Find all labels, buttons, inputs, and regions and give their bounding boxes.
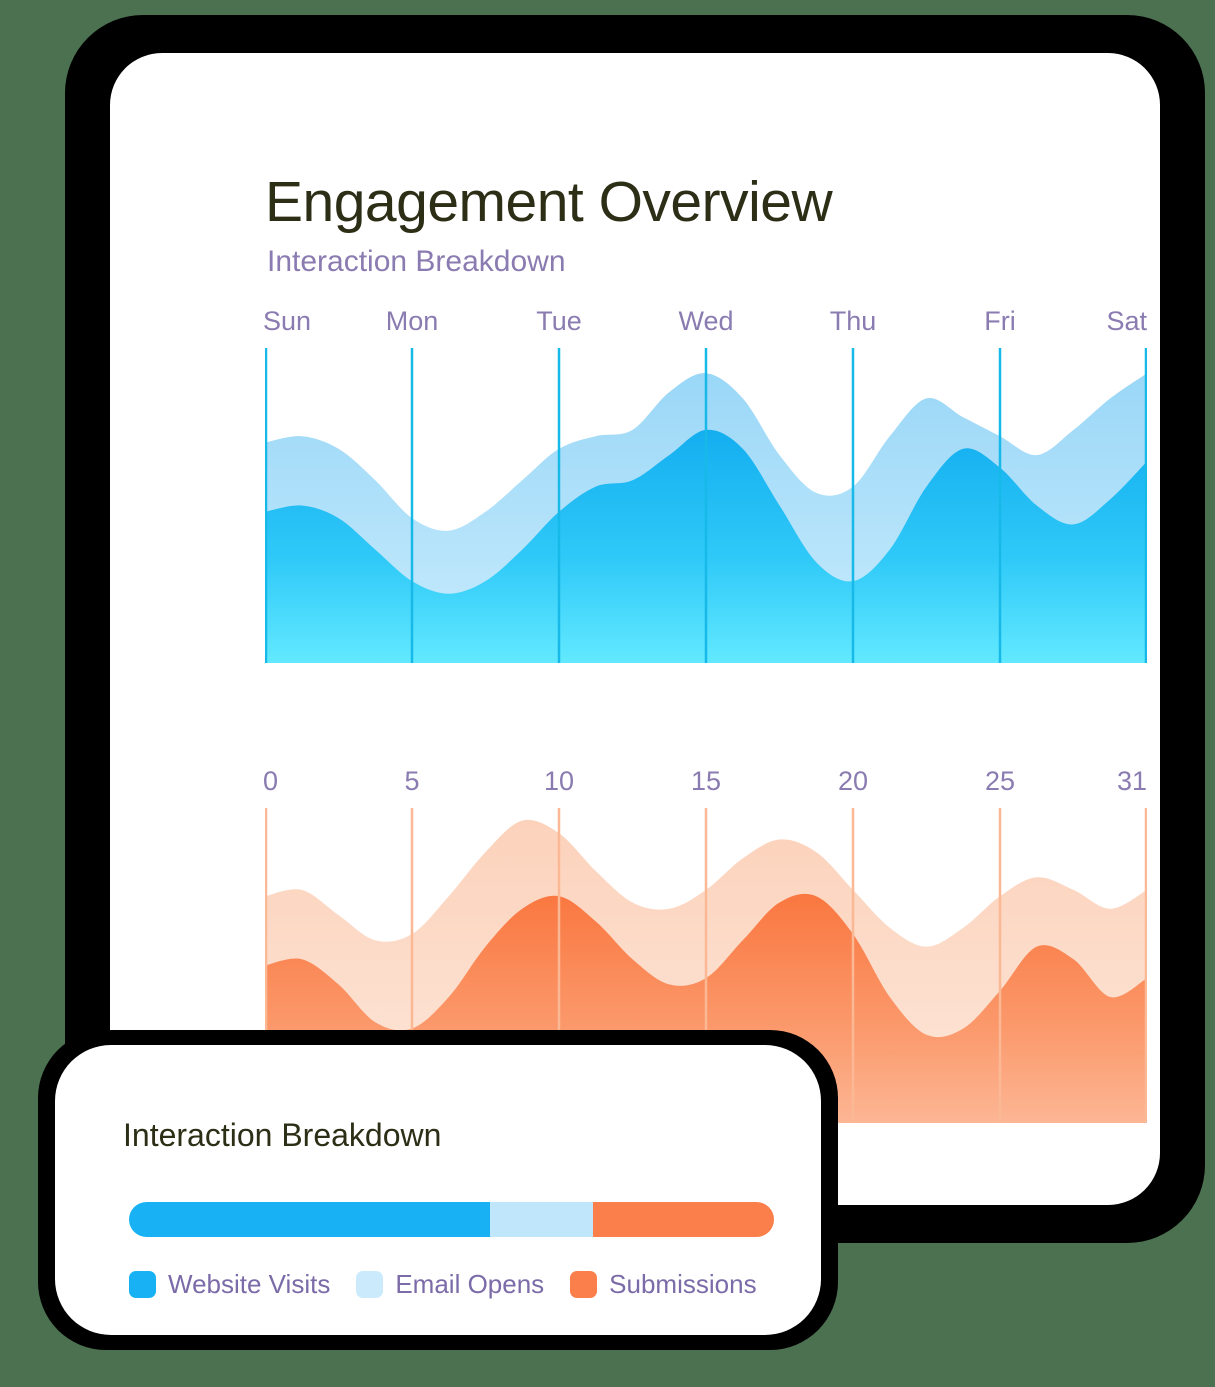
weekly-chart-x-axis: SunMonTueWedThuFriSat (265, 306, 1147, 348)
interaction-breakdown-card: Interaction Breakdown Website VisitsEmai… (55, 1045, 821, 1335)
axis-tick-label: Tue (536, 306, 582, 337)
legend-item-label: Email Opens (395, 1269, 544, 1300)
weekly-area-svg (265, 348, 1147, 663)
axis-tick-label: Fri (984, 306, 1015, 337)
axis-tick-label: 15 (691, 766, 721, 797)
bar-segment-email-opens[interactable] (490, 1202, 593, 1237)
interaction-breakdown-bar[interactable] (129, 1202, 774, 1237)
legend-swatch-icon (356, 1271, 383, 1298)
page-subtitle: Interaction Breakdown (267, 245, 566, 279)
bar-segment-website-visits[interactable] (129, 1202, 490, 1237)
axis-tick-label: 0 (263, 766, 278, 797)
legend-item-submissions[interactable]: Submissions (570, 1269, 756, 1300)
axis-tick-label: 31 (1117, 766, 1147, 797)
legend-swatch-icon (570, 1271, 597, 1298)
legend-item-label: Submissions (609, 1269, 756, 1300)
legend-item-label: Website Visits (168, 1269, 330, 1300)
weekly-chart-plot-area (265, 348, 1147, 663)
monthly-chart-x-axis: 051015202531 (265, 766, 1147, 808)
axis-tick-label: 10 (544, 766, 574, 797)
axis-tick-label: 5 (404, 766, 419, 797)
legend-card-title: Interaction Breakdown (123, 1117, 441, 1154)
axis-tick-label: 25 (985, 766, 1015, 797)
legend-item-website-visits[interactable]: Website Visits (129, 1269, 330, 1300)
bar-segment-submissions[interactable] (593, 1202, 774, 1237)
axis-tick-label: Sat (1106, 306, 1147, 337)
axis-tick-label: Thu (830, 306, 877, 337)
axis-tick-label: Wed (678, 306, 733, 337)
axis-tick-label: Sun (263, 306, 311, 337)
legend-items: Website VisitsEmail OpensSubmissions (129, 1269, 789, 1300)
axis-tick-label: Mon (386, 306, 439, 337)
axis-tick-label: 20 (838, 766, 868, 797)
legend-swatch-icon (129, 1271, 156, 1298)
page-title: Engagement Overview (265, 169, 832, 235)
weekly-engagement-chart: SunMonTueWedThuFriSat (265, 306, 1147, 663)
legend-item-email-opens[interactable]: Email Opens (356, 1269, 544, 1300)
interaction-breakdown-card-frame: Interaction Breakdown Website VisitsEmai… (38, 1030, 838, 1350)
